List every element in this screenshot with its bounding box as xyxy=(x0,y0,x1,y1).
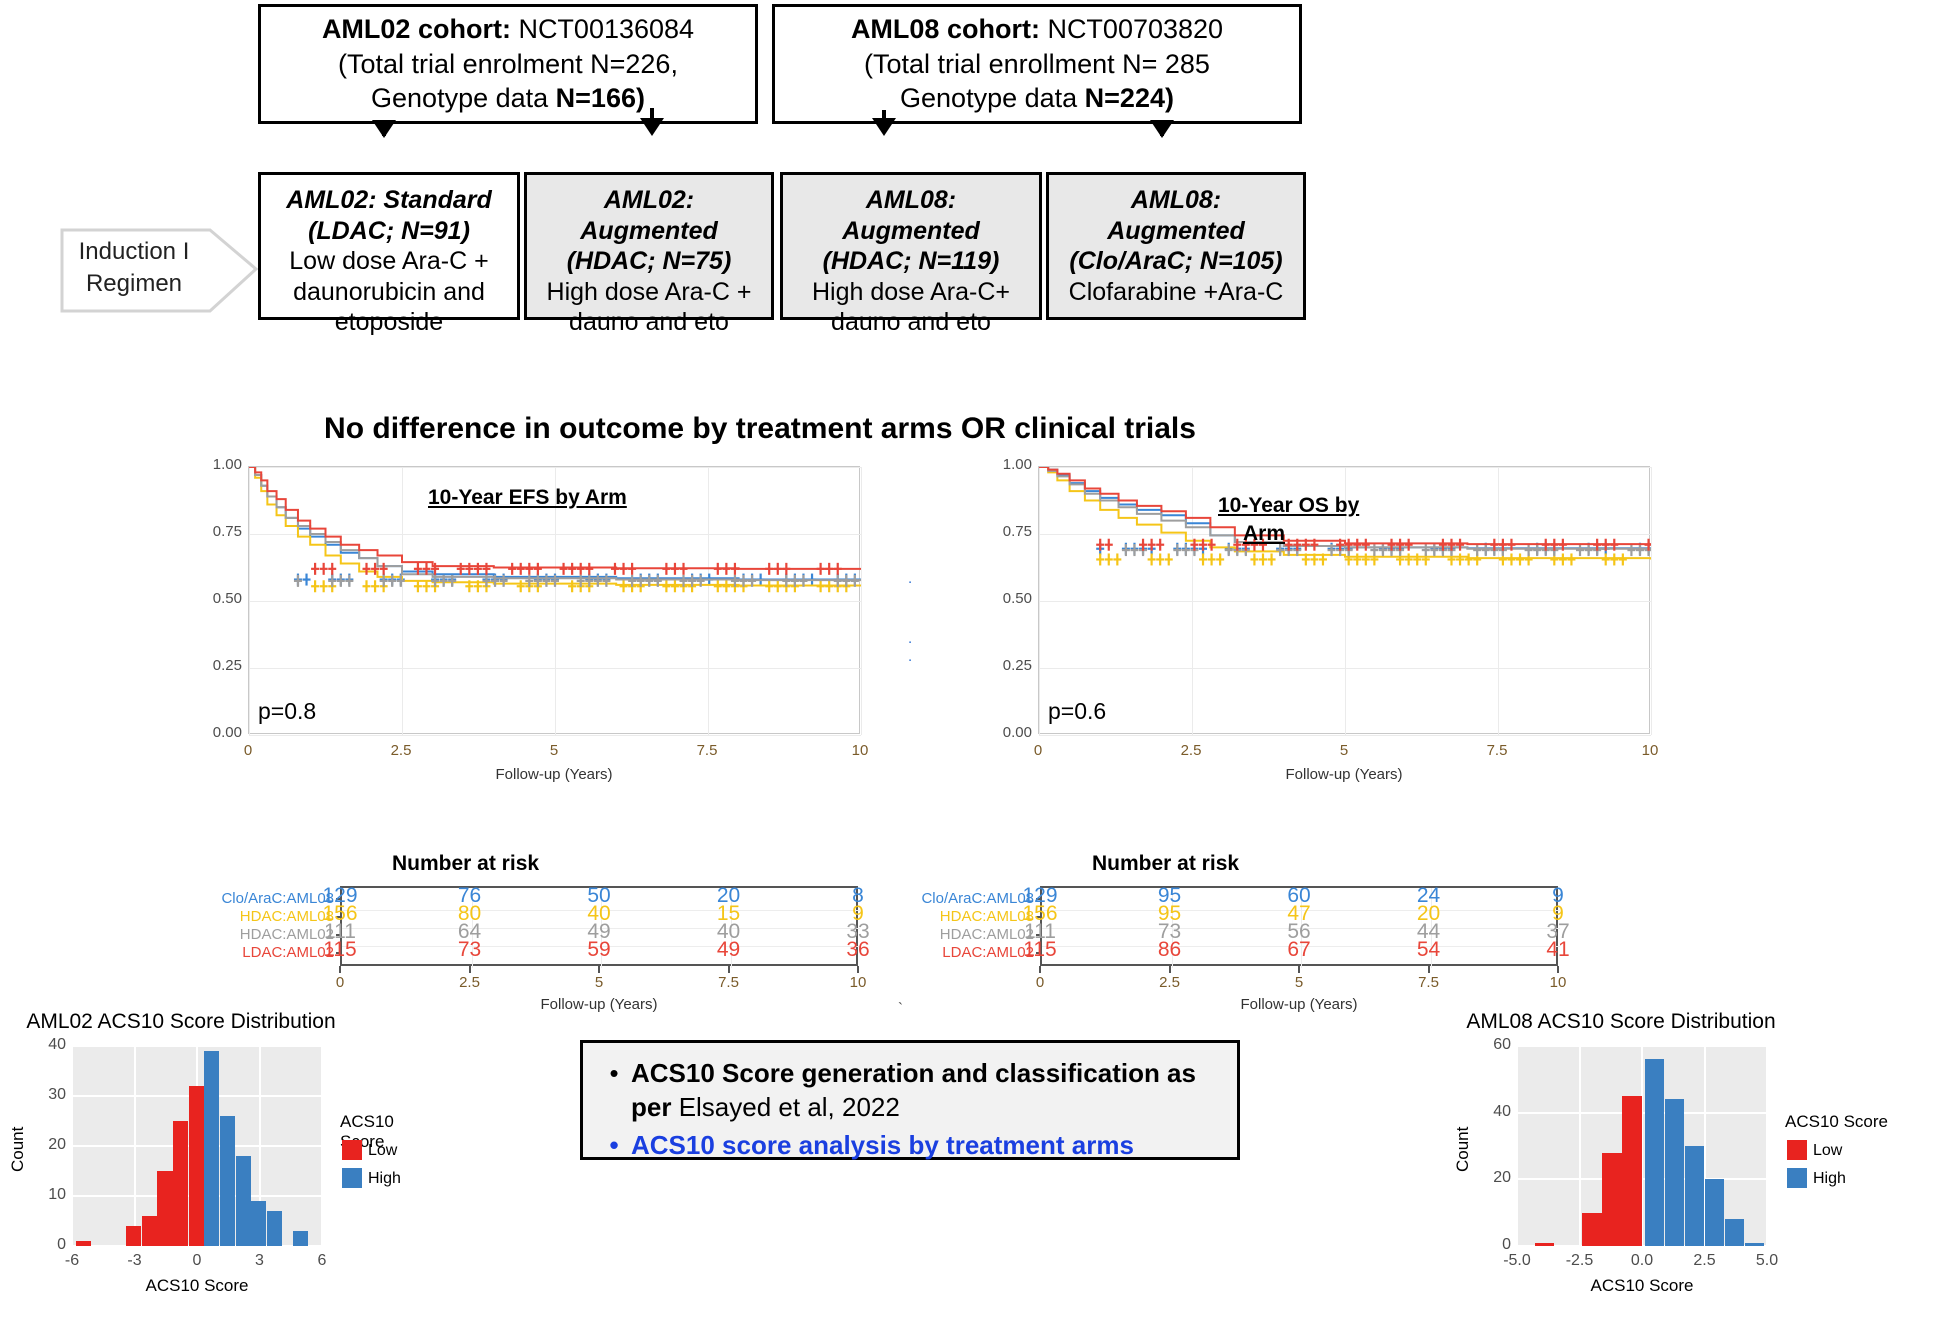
risk-table-title: Number at risk xyxy=(1092,852,1239,876)
histogram-bar xyxy=(267,1211,282,1246)
histogram-bar xyxy=(1602,1153,1622,1246)
arm-body-line: High dose Ara-C+ xyxy=(812,277,1010,308)
arm-body-line: etoposide xyxy=(335,307,443,338)
risk-table-title: Number at risk xyxy=(392,852,539,876)
risk-x-tick xyxy=(469,966,471,973)
histogram-bar xyxy=(76,1241,91,1246)
histogram-bar xyxy=(1685,1146,1705,1246)
risk-value: 36 xyxy=(830,938,886,962)
x-tick-label: 5 xyxy=(1314,742,1374,759)
risk-value: 73 xyxy=(442,938,498,962)
y-axis-title: Count xyxy=(8,1127,28,1172)
y-axis-title: Count xyxy=(1453,1127,1473,1172)
cohort-nct: NCT00136084 xyxy=(511,14,694,44)
risk-value: 59 xyxy=(571,938,627,962)
histogram-bar xyxy=(126,1226,141,1246)
callout-bullet-1: • ACS10 Score generation and classificat… xyxy=(597,1057,1219,1125)
gridline-x xyxy=(321,1046,323,1246)
risk-value: 49 xyxy=(701,938,757,962)
risk-x-tick xyxy=(1428,966,1430,973)
cohort-box-aml08: AML08 cohort: NCT00703820 (Total trial e… xyxy=(772,4,1302,124)
histogram-bar xyxy=(142,1216,157,1246)
y-tick-label: 0.50 xyxy=(986,590,1032,607)
km-plot-efs: 0.000.250.500.751.0002.557.51010-Year EF… xyxy=(190,458,910,818)
bullet-glyph-icon: • xyxy=(597,1057,631,1091)
arm-header-line: (HDAC; N=75) xyxy=(567,246,732,277)
induction-regimen-label: Induction I Regimen xyxy=(74,236,194,301)
histogram-bar xyxy=(1622,1096,1642,1246)
risk-x-tick xyxy=(1169,966,1171,973)
arm-body-line: daunorubicin and xyxy=(293,277,485,308)
arrow-head-aml08-hdac xyxy=(872,118,896,136)
histogram-plot-area xyxy=(1517,1046,1767,1246)
histogram-bar xyxy=(1582,1213,1602,1246)
arm-header-line: Augmented xyxy=(842,216,980,247)
histogram-bar xyxy=(204,1051,219,1246)
risk-value: 67 xyxy=(1271,938,1327,962)
x-tick-label: 3 xyxy=(228,1252,292,1270)
cohort-genotype-n: N=224) xyxy=(1085,83,1174,113)
risk-x-tick xyxy=(339,966,341,973)
arm-box-aml02-ldac: AML02: Standard (LDAC; N=91) Low dose Ar… xyxy=(258,172,520,320)
risk-x-tick-label: 5 xyxy=(569,974,629,991)
x-tick-label: 7.5 xyxy=(1467,742,1527,759)
histogram-bar xyxy=(236,1156,251,1246)
cohort-genotype-pre: Genotype data xyxy=(371,83,556,113)
arm-header-line: AML02: xyxy=(604,185,694,216)
callout-bullet-2-text: ACS10 score analysis by treatment arms xyxy=(631,1129,1134,1163)
stray-marker: . xyxy=(908,630,912,647)
y-tick-label: 0.75 xyxy=(196,523,242,540)
risk-x-tick xyxy=(1039,966,1041,973)
y-tick-label: 40 xyxy=(26,1036,66,1054)
risk-table-efs: Number at riskClo/AraC:AML081297650208HD… xyxy=(190,848,920,993)
arm-header-line: (HDAC; N=119) xyxy=(823,246,1000,277)
histogram-bar xyxy=(220,1116,235,1246)
cohort-title-line: AML02 cohort: NCT00136084 xyxy=(322,12,694,47)
gridline-x xyxy=(71,1046,73,1246)
cohort-enrolment: (Total trial enrolment N=226, xyxy=(338,47,678,82)
histogram-title: AML02 ACS10 Score Distribution xyxy=(20,1010,342,1034)
arm-body-line: dauno and eto xyxy=(831,307,991,338)
x-tick-label: 10 xyxy=(830,742,890,759)
legend-swatch xyxy=(342,1140,362,1160)
callout-bullet-2: • ACS10 score analysis by treatment arms xyxy=(597,1129,1219,1163)
cohort-box-aml02: AML02 cohort: NCT00136084 (Total trial e… xyxy=(258,4,758,124)
histogram-bar xyxy=(251,1201,266,1246)
histogram-bar xyxy=(1535,1243,1555,1246)
x-axis-title: ACS10 Score xyxy=(72,1276,322,1296)
arm-box-aml08-cloarac: AML08: Augmented (Clo/AraC; N=105) Clofa… xyxy=(1046,172,1306,320)
risk-x-tick xyxy=(857,966,859,973)
arm-body-line: High dose Ara-C + xyxy=(547,277,752,308)
x-tick-label: 0 xyxy=(165,1252,229,1270)
x-axis-title: Follow-up (Years) xyxy=(1038,766,1650,783)
histogram-plot-area xyxy=(72,1046,322,1246)
histogram-bar xyxy=(173,1121,188,1246)
risk-value: 115 xyxy=(312,938,368,962)
km-plot-title: Arm xyxy=(1243,522,1285,546)
legend-label: Low xyxy=(368,1142,397,1160)
histogram-aml08: AML08 ACS10 Score Distribution0204060-5.… xyxy=(1455,1010,1925,1320)
y-tick-label: 20 xyxy=(26,1136,66,1154)
x-axis-title: ACS10 Score xyxy=(1517,1276,1767,1296)
p-value-annotation: p=0.6 xyxy=(1048,698,1106,725)
risk-value: 41 xyxy=(1530,938,1586,962)
arm-box-aml02-hdac: AML02: Augmented (HDAC; N=75) High dose … xyxy=(524,172,774,320)
arm-header-line: AML08: xyxy=(866,185,956,216)
legend-label: High xyxy=(368,1170,401,1188)
histogram-bar xyxy=(1705,1179,1725,1246)
x-tick-label: -5.0 xyxy=(1485,1252,1549,1270)
x-tick-label: 6 xyxy=(290,1252,354,1270)
x-axis-title: Follow-up (Years) xyxy=(248,766,860,783)
risk-value: 86 xyxy=(1142,938,1198,962)
risk-x-tick xyxy=(728,966,730,973)
cohort-name: AML08 cohort: xyxy=(851,14,1040,44)
induction-line1: Induction I xyxy=(74,236,194,268)
risk-x-tick-label: 2.5 xyxy=(440,974,500,991)
x-tick-label: 0 xyxy=(1008,742,1068,759)
arrow-head-aml02-hdac xyxy=(640,118,664,136)
km-plot-title: 10-Year EFS by Arm xyxy=(428,486,627,510)
gridline-x xyxy=(1516,1046,1518,1246)
y-tick-label: 0.00 xyxy=(196,724,242,741)
histogram-bar xyxy=(1745,1243,1765,1246)
histogram-bar xyxy=(1645,1059,1665,1246)
arm-header-line: AML08: xyxy=(1131,185,1221,216)
cohort-name: AML02 cohort: xyxy=(322,14,511,44)
risk-x-tick-label: 7.5 xyxy=(1399,974,1459,991)
cohort-genotype: Genotype data N=166) xyxy=(371,81,645,116)
risk-x-tick xyxy=(1298,966,1300,973)
x-tick-label: 7.5 xyxy=(677,742,737,759)
gridline-x xyxy=(1579,1046,1581,1246)
risk-x-tick-label: 0 xyxy=(1010,974,1070,991)
y-tick-label: 0.25 xyxy=(196,657,242,674)
legend-swatch xyxy=(1787,1140,1807,1160)
arm-header-line: (LDAC; N=91) xyxy=(308,216,470,247)
legend-label: High xyxy=(1813,1170,1846,1188)
y-tick-label: 20 xyxy=(1471,1169,1511,1187)
arm-body-line: dauno and eto xyxy=(569,307,729,338)
risk-x-tick xyxy=(1557,966,1559,973)
y-tick-label: 60 xyxy=(1471,1036,1511,1054)
x-tick-label: 2.5 xyxy=(1161,742,1221,759)
callout-box: • ACS10 Score generation and classificat… xyxy=(580,1040,1240,1160)
y-tick-label: 1.00 xyxy=(986,456,1032,473)
arm-header-line: Augmented xyxy=(1107,216,1245,247)
x-tick-label: 2.5 xyxy=(371,742,431,759)
x-tick-label: 0 xyxy=(218,742,278,759)
histogram-bar xyxy=(157,1171,172,1246)
risk-table-os: Number at riskClo/AraC:AML081299560249HD… xyxy=(890,848,1620,993)
cohort-genotype-pre: Genotype data xyxy=(900,83,1085,113)
flowchart: AML02 cohort: NCT00136084 (Total trial e… xyxy=(0,0,1950,95)
risk-x-tick xyxy=(598,966,600,973)
cohort-genotype-n: N=166) xyxy=(556,83,645,113)
histogram-bar xyxy=(1725,1219,1745,1246)
y-tick-label: 10 xyxy=(26,1186,66,1204)
induction-regimen-chevron: Induction I Regimen xyxy=(60,222,260,317)
y-tick-label: 0.25 xyxy=(986,657,1032,674)
section-banner: No difference in outcome by treatment ar… xyxy=(190,412,1330,446)
risk-x-tick-label: 7.5 xyxy=(699,974,759,991)
legend-title: ACS10 Score xyxy=(1785,1112,1888,1132)
risk-x-tick-label: 5 xyxy=(1269,974,1329,991)
risk-x-tick-label: 2.5 xyxy=(1140,974,1200,991)
arm-body-line: Clofarabine +Ara-C xyxy=(1069,277,1284,308)
stray-marker: . xyxy=(908,648,912,665)
legend-label: Low xyxy=(1813,1142,1842,1160)
arm-box-aml08-hdac: AML08: Augmented (HDAC; N=119) High dose… xyxy=(780,172,1042,320)
y-tick-label: 1.00 xyxy=(196,456,242,473)
cohort-nct: NCT00703820 xyxy=(1040,14,1223,44)
x-tick-label: 2.5 xyxy=(1673,1252,1737,1270)
induction-line2: Regimen xyxy=(74,268,194,300)
legend-swatch xyxy=(1787,1168,1807,1188)
km-plot-os: 0.000.250.500.751.0002.557.51010-Year OS… xyxy=(980,458,1700,818)
x-tick-label: -6 xyxy=(40,1252,104,1270)
risk-x-tick-label: 10 xyxy=(828,974,888,991)
histogram-aml02: AML02 ACS10 Score Distribution010203040-… xyxy=(20,1010,440,1320)
risk-value: 54 xyxy=(1401,938,1457,962)
histogram-bar xyxy=(1665,1099,1685,1246)
x-tick-label: 0.0 xyxy=(1610,1252,1674,1270)
x-tick-label: -2.5 xyxy=(1548,1252,1612,1270)
arrow-head-aml08-cloarac xyxy=(1150,120,1174,138)
arrow-head-aml02-ldac xyxy=(372,120,396,138)
risk-value: 115 xyxy=(1012,938,1068,962)
arm-header-line: Augmented xyxy=(580,216,718,247)
arm-body-line: Low dose Ara-C + xyxy=(289,246,488,277)
x-tick-label: -3 xyxy=(103,1252,167,1270)
cohort-enrolment: (Total trial enrollment N= 285 xyxy=(864,47,1210,82)
histogram-title: AML08 ACS10 Score Distribution xyxy=(1455,1010,1787,1034)
callout-bullet-1-rest: Elsayed et al, 2022 xyxy=(679,1092,900,1122)
x-tick-label: 5.0 xyxy=(1735,1252,1799,1270)
y-tick-label: 0.00 xyxy=(986,724,1032,741)
gridline-x xyxy=(134,1046,136,1246)
histogram-bar xyxy=(189,1086,204,1246)
risk-x-tick-label: 0 xyxy=(310,974,370,991)
y-tick-label: 0.50 xyxy=(196,590,242,607)
stray-marker: ` xyxy=(898,1000,903,1017)
legend-swatch xyxy=(342,1168,362,1188)
risk-x-tick-label: 10 xyxy=(1528,974,1588,991)
cohort-genotype: Genotype data N=224) xyxy=(900,81,1174,116)
p-value-annotation: p=0.8 xyxy=(258,698,316,725)
x-tick-label: 10 xyxy=(1620,742,1680,759)
y-tick-label: 40 xyxy=(1471,1103,1511,1121)
y-tick-label: 30 xyxy=(26,1086,66,1104)
arm-header-line: AML02: Standard xyxy=(286,185,492,216)
bullet-glyph-icon: • xyxy=(597,1129,631,1163)
histogram-bar xyxy=(293,1231,308,1246)
gridline-x xyxy=(1766,1046,1768,1246)
arm-header-line: (Clo/AraC; N=105) xyxy=(1069,246,1282,277)
y-tick-label: 0.75 xyxy=(986,523,1032,540)
cohort-title-line: AML08 cohort: NCT00703820 xyxy=(851,12,1223,47)
x-tick-label: 5 xyxy=(524,742,584,759)
stray-marker: . xyxy=(908,570,912,587)
km-plot-title: 10-Year OS by xyxy=(1218,494,1359,518)
